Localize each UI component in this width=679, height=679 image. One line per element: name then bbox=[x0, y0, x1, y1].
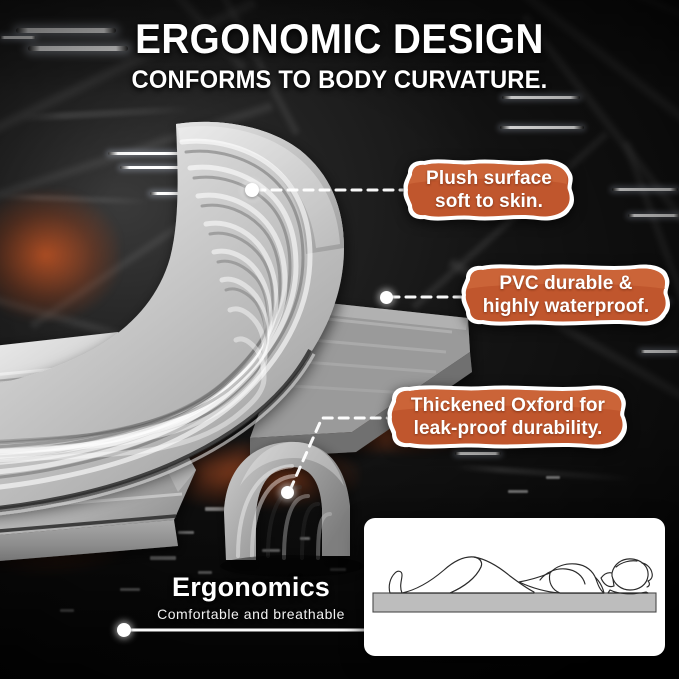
callout-oxford-text: Thickened Oxford for leak-proof durabili… bbox=[411, 394, 605, 440]
callout-dot-oxford bbox=[281, 486, 294, 499]
ergonomics-subtitle: Comfortable and breathable bbox=[120, 605, 382, 623]
callout-pvc-waterproof[interactable]: PVC durable & highly waterproof. bbox=[458, 262, 674, 328]
ergonomics-title: Ergonomics bbox=[120, 572, 382, 602]
callout-dot-ergonomics bbox=[117, 623, 131, 637]
mattress-slab-icon bbox=[373, 593, 656, 612]
callout-pvc-text: PVC durable & highly waterproof. bbox=[483, 272, 649, 318]
callout-dot-pvc bbox=[380, 291, 393, 304]
callout-thickened-oxford[interactable]: Thickened Oxford for leak-proof durabili… bbox=[384, 383, 632, 451]
person-lying-icon bbox=[364, 518, 665, 656]
ergonomics-label: Ergonomics Comfortable and breathable bbox=[120, 572, 382, 623]
callout-dot-plush bbox=[245, 183, 259, 197]
posture-diagram-card[interactable] bbox=[364, 518, 665, 656]
callout-plush-surface[interactable]: Plush surface soft to skin. bbox=[400, 157, 578, 223]
callout-plush-text: Plush surface soft to skin. bbox=[426, 167, 552, 213]
product-marketing-image: Plush surface soft to skin. PVC durable … bbox=[0, 0, 679, 679]
